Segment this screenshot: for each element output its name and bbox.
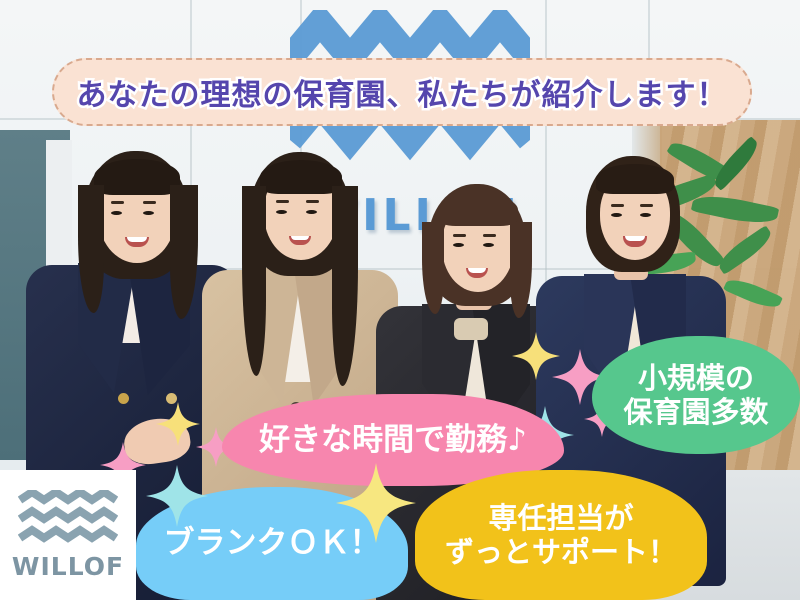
eye bbox=[640, 213, 651, 217]
eye bbox=[143, 211, 154, 215]
recruitment-poster: WILLOF bbox=[0, 0, 800, 600]
fringe bbox=[438, 194, 518, 226]
eyebrow bbox=[143, 201, 156, 204]
eyebrow bbox=[111, 201, 124, 204]
sparkle-yellow-1 bbox=[156, 400, 200, 448]
eyebrow bbox=[611, 204, 624, 207]
bubble-line: 保育園多数 bbox=[623, 395, 768, 429]
bubble-line: 好きな時間で勤務♪ bbox=[259, 422, 527, 459]
teeth bbox=[127, 237, 147, 242]
teeth bbox=[468, 268, 486, 273]
blazer-button bbox=[118, 393, 129, 404]
support-bubble: 専任担当が ずっとサポート！ bbox=[415, 470, 707, 600]
fringe bbox=[260, 160, 342, 194]
sparkle-cyan-2 bbox=[146, 462, 208, 530]
eye bbox=[306, 210, 317, 214]
fringe bbox=[596, 164, 674, 194]
blouse-knot bbox=[454, 318, 488, 340]
eyebrow bbox=[640, 204, 653, 207]
eye bbox=[611, 213, 622, 217]
bubble-line: ずっとサポート！ bbox=[445, 535, 677, 569]
eye bbox=[111, 211, 122, 215]
willof-wordmark: WILLOF bbox=[12, 552, 124, 581]
teeth bbox=[291, 236, 309, 240]
willof-zigzag-icon bbox=[18, 490, 118, 548]
eye bbox=[453, 243, 464, 247]
fringe bbox=[94, 159, 180, 195]
hair-strand bbox=[422, 222, 444, 314]
bubble-line: 専任担当が bbox=[488, 501, 633, 535]
willof-logo: WILLOF bbox=[0, 470, 136, 600]
sparkle-yellow-3 bbox=[336, 460, 416, 546]
eyebrow bbox=[483, 234, 496, 237]
eye bbox=[276, 210, 287, 214]
eyebrow bbox=[306, 200, 319, 203]
teeth bbox=[625, 236, 645, 241]
headline-banner: あなたの理想の保育園、私たちが紹介します！ bbox=[52, 58, 752, 126]
eyebrow bbox=[453, 234, 466, 237]
eye bbox=[483, 243, 494, 247]
headline-text: あなたの理想の保育園、私たちが紹介します！ bbox=[77, 70, 728, 114]
eyebrow bbox=[276, 200, 289, 203]
small-nursery-bubble: 小規模の 保育園多数 bbox=[592, 336, 800, 454]
bubble-line: 小規模の bbox=[638, 361, 754, 395]
